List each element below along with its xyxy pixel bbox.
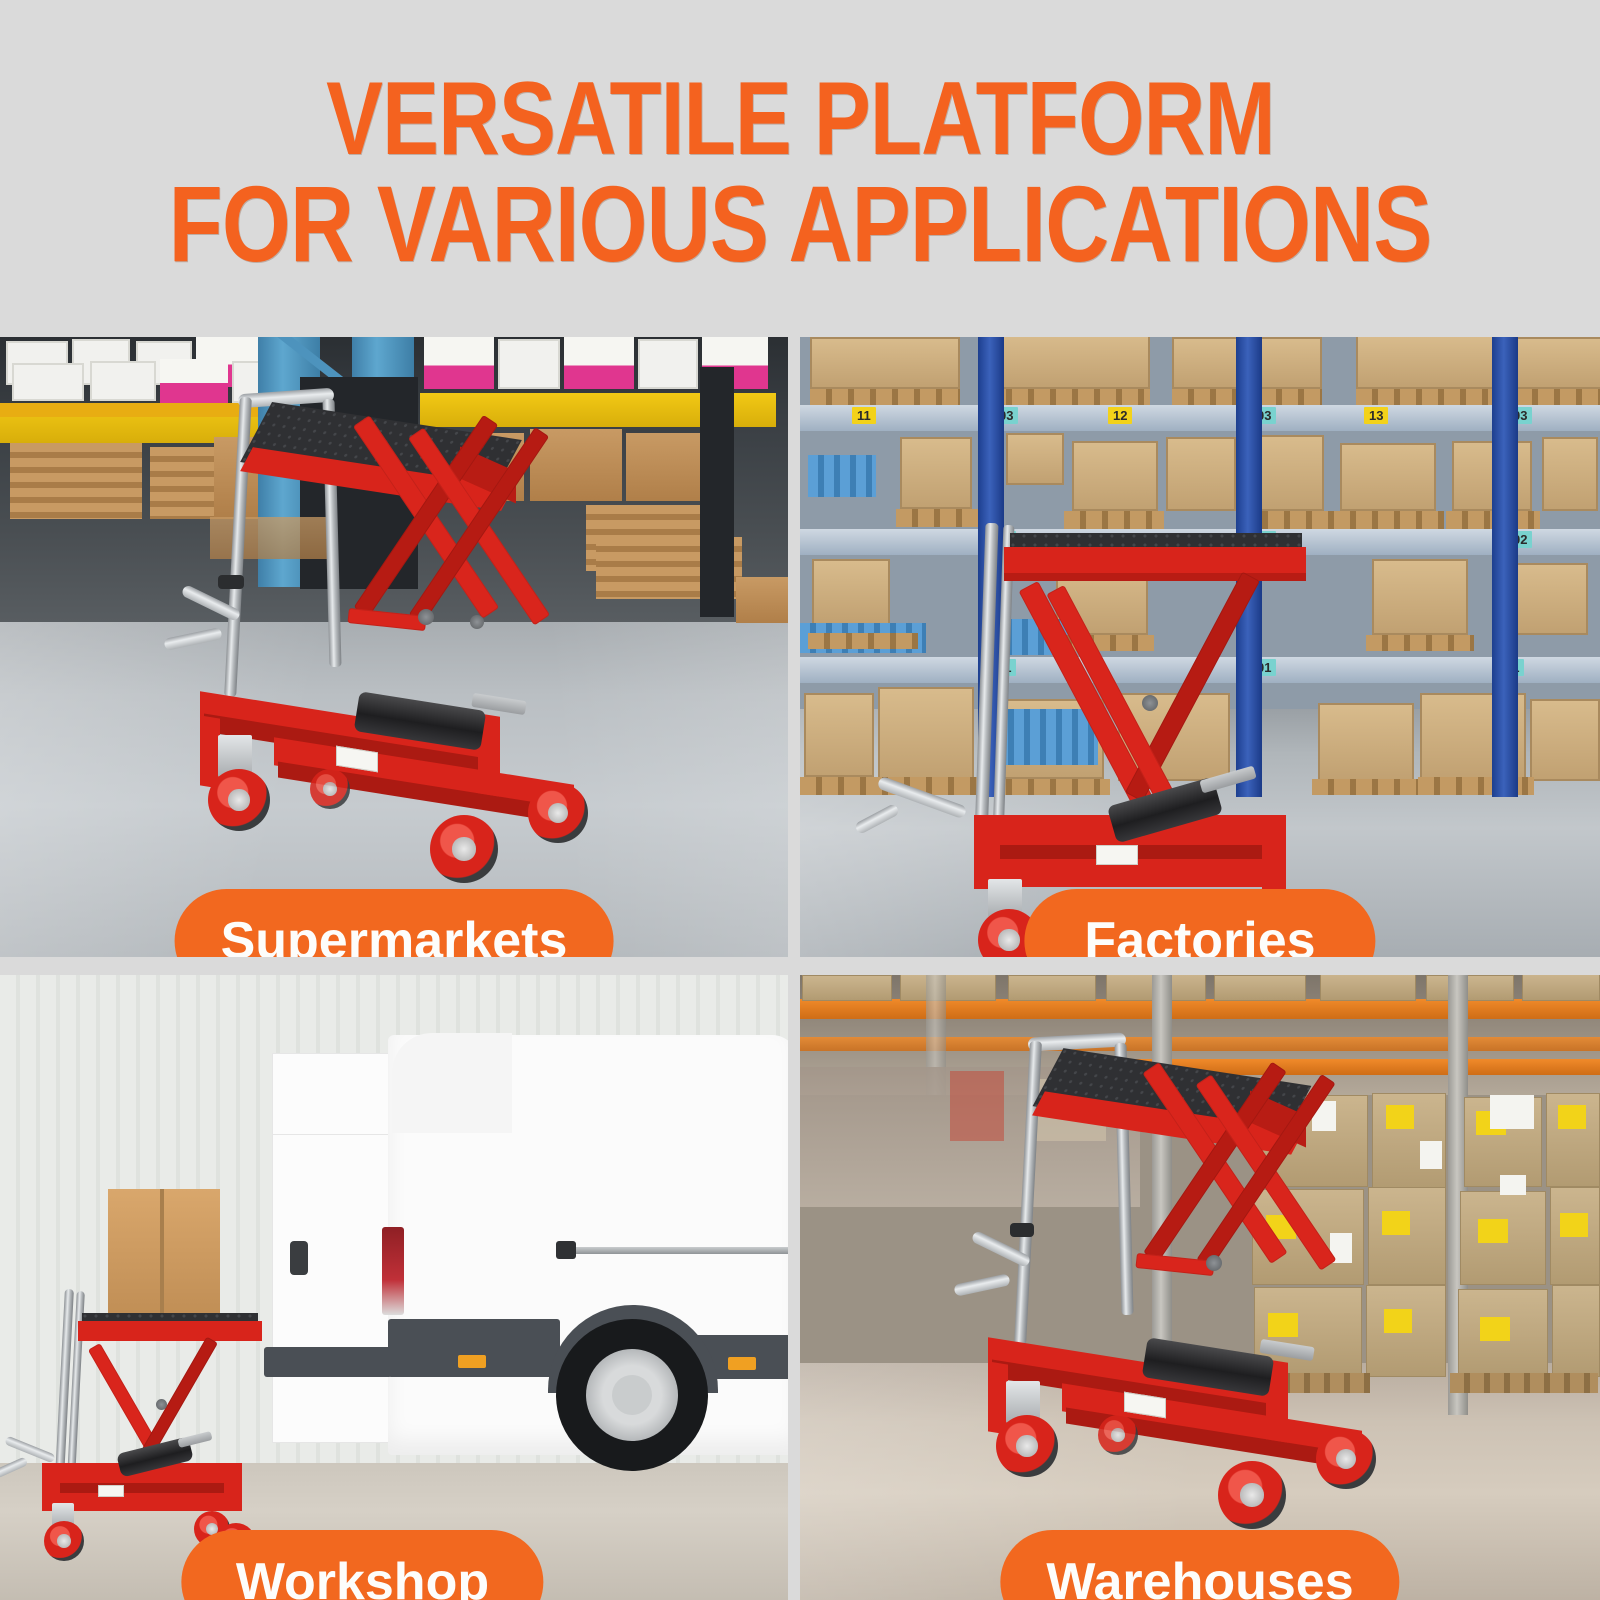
label-pill-workshop: Workshop: [182, 1530, 543, 1600]
scene-warehouse-aisle: [800, 975, 1600, 1600]
headline-line-1: VERSATILE PLATFORM: [326, 69, 1275, 171]
scene-factory-racking: 11 03 12 03 13 03: [800, 337, 1600, 957]
marketing-infographic: VERSATILE PLATFORM FOR VARIOUS APPLICATI…: [0, 0, 1600, 1600]
headline-banner: VERSATILE PLATFORM FOR VARIOUS APPLICATI…: [0, 0, 1600, 337]
label-pill-factories: Factories: [1024, 889, 1375, 957]
headline-line-2: FOR VARIOUS APPLICATIONS: [169, 171, 1432, 277]
label-pill-warehouses: Warehouses: [1000, 1530, 1399, 1600]
tile-workshop[interactable]: Workshop: [0, 975, 788, 1600]
scissor-lift-cart: [940, 1039, 1410, 1539]
scene-van-loading: [0, 975, 788, 1600]
tile-warehouses[interactable]: Warehouses: [800, 975, 1600, 1600]
label-pill-supermarkets: Supermarkets: [175, 889, 614, 957]
scissor-lift-cart: [160, 397, 630, 887]
tile-supermarkets[interactable]: Supermarkets: [0, 337, 788, 957]
tile-factories[interactable]: 11 03 12 03 13 03: [800, 337, 1600, 957]
scene-supermarket-warehouse: [0, 337, 788, 957]
application-grid: Supermarkets: [0, 337, 1600, 1600]
